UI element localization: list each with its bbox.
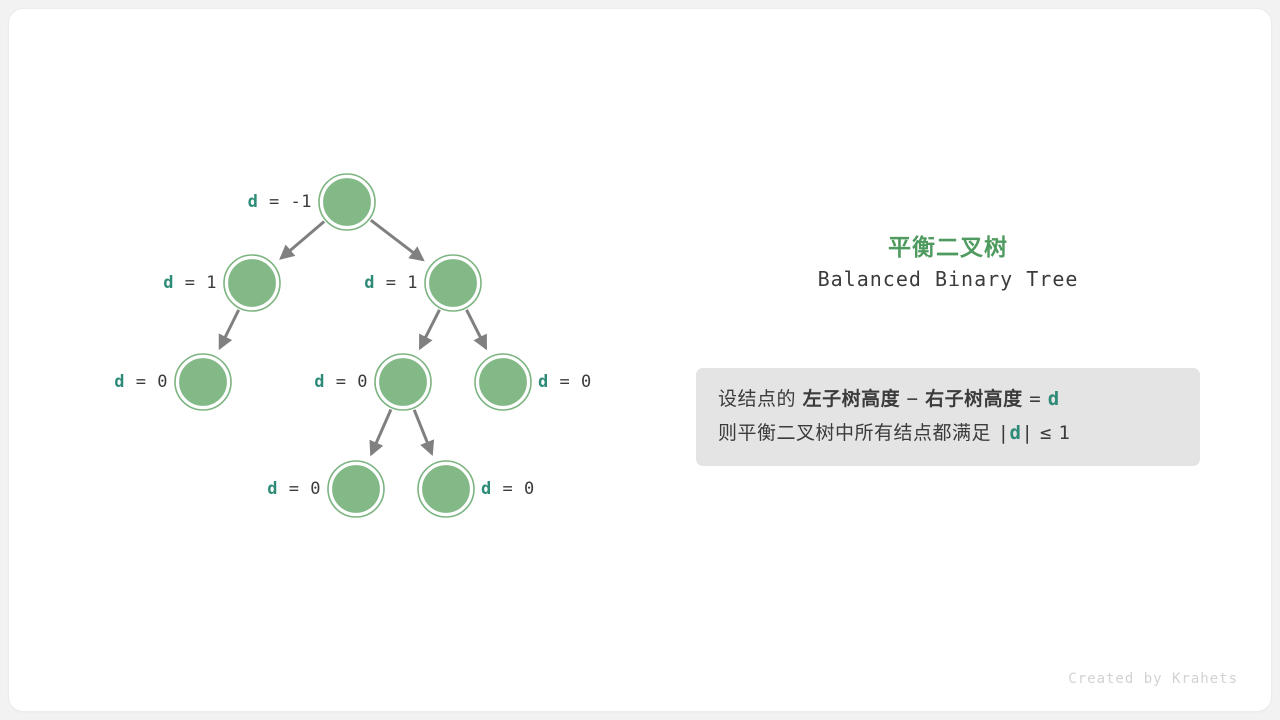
formula-minus: − [907, 388, 919, 410]
node-label-value: = 1 [174, 273, 217, 293]
tree-node-circle[interactable] [178, 357, 228, 407]
node-label-variable: d [481, 479, 492, 499]
node-balance-label: d = 1 [364, 273, 418, 293]
formula-callout: 设结点的 左子树高度 − 右子树高度 = d 则平衡二叉树中所有结点都满足 |d… [696, 368, 1200, 466]
formula-variable-d: d [1048, 388, 1060, 410]
formula-term-right: 右子树高度 [925, 388, 1023, 410]
node-balance-label: d = 0 [114, 372, 168, 392]
formula-term-left: 左子树高度 [803, 388, 901, 410]
node-label-value: = 0 [325, 372, 368, 392]
node-balance-label: d = 0 [481, 479, 535, 499]
node-label-value: = 0 [492, 479, 535, 499]
node-label-variable: d [248, 192, 259, 212]
formula-line-1: 设结点的 左子树高度 − 右子树高度 = d [718, 382, 1178, 416]
abs-bar-open: | [998, 422, 1010, 444]
node-label-variable: d [267, 479, 278, 499]
tree-node-circle[interactable] [227, 258, 277, 308]
page-subtitle: Balanced Binary Tree [696, 267, 1200, 291]
node-balance-label: d = 1 [163, 273, 217, 293]
binary-tree-graphic [0, 0, 1280, 720]
tree-node-circle[interactable] [421, 464, 471, 514]
tree-edge [414, 410, 432, 454]
abs-bar-close: | [1021, 422, 1033, 444]
formula-condition-prefix: 则平衡二叉树中所有结点都满足 [718, 422, 991, 444]
diagram-canvas: d = -1d = 1d = 1d = 0d = 0d = 0d = 0d = … [0, 0, 1280, 720]
tree-nodes [175, 174, 531, 517]
tree-node-circle[interactable] [322, 177, 372, 227]
node-label-value: = 0 [549, 372, 592, 392]
tree-node-circle[interactable] [331, 464, 381, 514]
formula-prefix: 设结点的 [718, 388, 796, 410]
tree-node-circle[interactable] [378, 357, 428, 407]
node-balance-label: d = -1 [248, 192, 312, 212]
node-balance-label: d = 0 [538, 372, 592, 392]
page-title: 平衡二叉树 [696, 228, 1200, 262]
node-label-variable: d [364, 273, 375, 293]
tree-edge [420, 310, 439, 348]
node-label-variable: d [538, 372, 549, 392]
tree-edge [220, 310, 239, 348]
node-label-value: = -1 [258, 192, 312, 212]
formula-variable-d-abs: d [1010, 422, 1022, 444]
node-label-variable: d [314, 372, 325, 392]
tree-edge [371, 409, 391, 454]
tree-node-circle[interactable] [478, 357, 528, 407]
relation-operator: ≤ [1040, 422, 1052, 444]
credit-text: Created by Krahets [1068, 671, 1238, 687]
tree-node-circle[interactable] [428, 258, 478, 308]
node-label-value: = 0 [278, 479, 321, 499]
tree-edge [467, 310, 486, 348]
formula-line-2: 则平衡二叉树中所有结点都满足 |d| ≤ 1 [718, 416, 1178, 450]
node-label-variable: d [163, 273, 174, 293]
formula-equals: = [1029, 388, 1041, 410]
node-label-value: = 0 [125, 372, 168, 392]
node-balance-label: d = 0 [314, 372, 368, 392]
node-balance-label: d = 0 [267, 479, 321, 499]
node-label-variable: d [114, 372, 125, 392]
node-label-value: = 1 [375, 273, 418, 293]
tree-edge [281, 221, 324, 258]
relation-value: 1 [1058, 422, 1070, 444]
tree-edge [371, 220, 423, 260]
